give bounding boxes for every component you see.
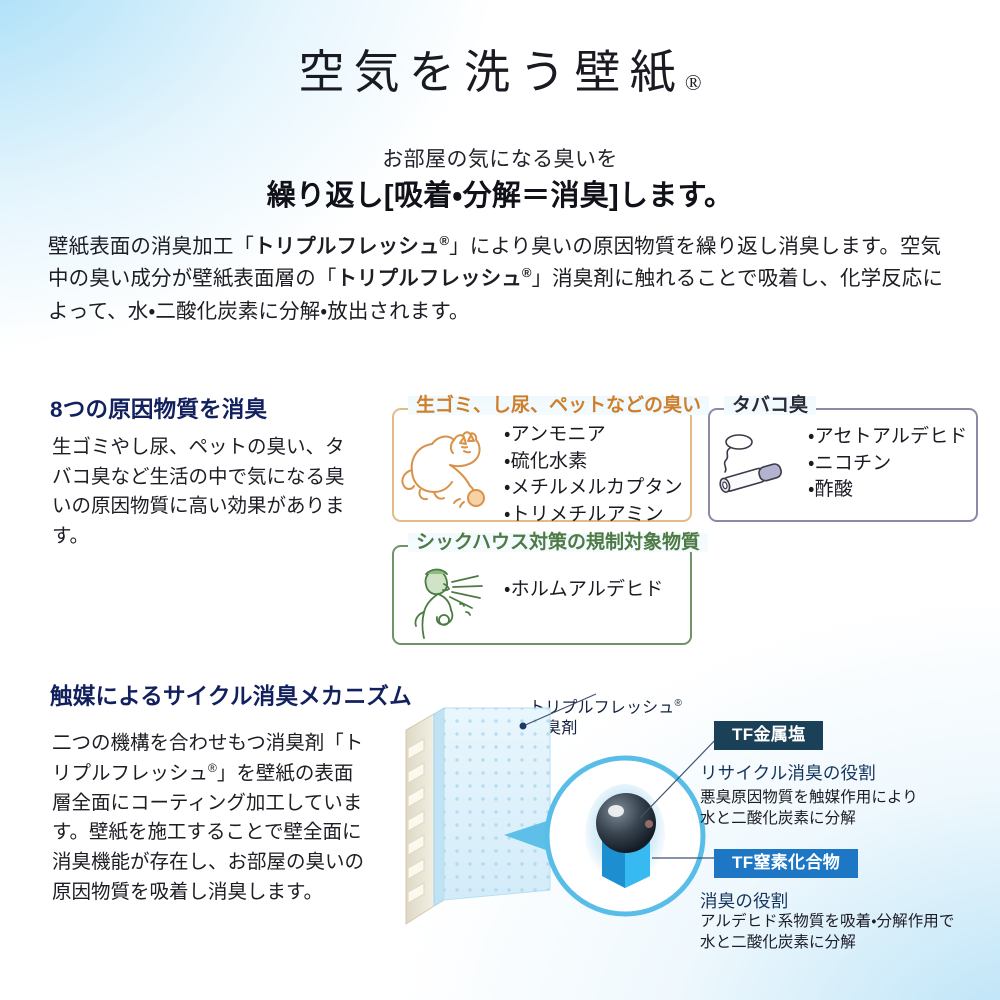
section2-body: 二つの機構を合わせもつ消臭剤「トリプルフレッシュ®」を壁紙の表面層全面にコーティ… <box>52 729 372 907</box>
odor-box-tobacco-legend: タバコ臭 <box>724 396 816 415</box>
list-item: ・メチルメルカプタン <box>504 475 683 502</box>
section1-heading: 8つの原因物質を消臭 <box>50 392 267 424</box>
list-item: ・酢酸 <box>808 477 968 504</box>
brand-name-2: トリプルフレッシュ <box>336 267 521 290</box>
callout-nitro-desc-line2: 水と二酸化炭素に分解 <box>700 934 856 951</box>
brand-1-registered-icon: ® <box>439 233 449 248</box>
magnified-view <box>547 758 703 914</box>
list-item: ・アンモニア <box>504 422 683 449</box>
callout-metal-desc-line2: 水と二酸化炭素に分解 <box>700 810 856 827</box>
list-item: ・トリメチルアミン <box>504 502 683 529</box>
list-item: ・ホルムアルデヒド <box>504 577 664 604</box>
registered-trademark-icon: ® <box>685 70 702 95</box>
cat-icon <box>398 428 494 519</box>
odor-box-sickhouse-list: ・ホルムアルデヒド <box>504 577 664 604</box>
section2-body-part-1: 二つの機構を合わせもつ消臭剤「 <box>52 732 344 754</box>
list-item: ・アセトアルデヒド <box>808 424 968 451</box>
brand-2-registered-icon: ® <box>522 266 532 281</box>
cigarette-icon <box>714 430 796 505</box>
section2-registered-icon: ® <box>208 761 217 775</box>
callout-metal-desc-line1: 悪臭原因物質を触媒作用により <box>700 789 918 806</box>
coughing-person-icon <box>404 560 496 645</box>
section2-heading: 触媒によるサイクル消臭メカニズム <box>50 679 412 711</box>
callout-nitro-desc: アルデヒド系物質を吸着・分解作用で 水と二酸化炭素に分解 <box>700 911 954 954</box>
odor-box-garbage-legend: 生ゴミ、し尿、ペットなどの臭い <box>408 396 709 415</box>
lead-paragraph: 壁紙表面の消臭加工「トリプルフレッシュ®」により臭いの原因物質を繰り返し消臭しま… <box>48 231 954 328</box>
badge-tf-metal-salt: TF金属塩 <box>714 721 823 750</box>
subtitle-strong: 繰り返し[吸着・分解＝消臭]します。 <box>0 172 1000 214</box>
odor-box-sickhouse-legend: シックハウス対策の規制対象物質 <box>408 533 708 552</box>
page-title: 空気を洗う壁紙® <box>0 48 1000 99</box>
odor-box-garbage-list: ・アンモニア ・硫化水素 ・メチルメルカプタン ・トリメチルアミン <box>504 422 683 528</box>
list-item: ・硫化水素 <box>504 449 683 476</box>
wallpaper-cross-section <box>406 708 550 924</box>
badge-tf-nitrogen-compound: TF窒素化合物 <box>714 849 858 878</box>
dark-sphere-icon <box>596 793 656 853</box>
brand-name-1: トリプルフレッシュ <box>254 235 439 258</box>
callout-nitro-desc-line1: アルデヒド系物質を吸着・分解作用で <box>700 913 954 930</box>
lead-part-1: 壁紙表面の消臭加工「 <box>48 235 254 258</box>
callout-metal-desc: 悪臭原因物質を触媒作用により 水と二酸化炭素に分解 <box>700 787 918 830</box>
main-title-text: 空気を洗う壁紙 <box>298 47 684 98</box>
section1-body: 生ゴミやし尿、ペットの臭い、タバコ臭など生活の中で気になる臭いの原因物質に高い効… <box>52 433 352 552</box>
list-item: ・ニコチン <box>808 451 968 478</box>
infographic-page: 空気を洗う壁紙® お部屋の気になる臭いを 繰り返し[吸着・分解＝消臭]します。 … <box>0 0 1000 1000</box>
subtitle-lead: お部屋の気になる臭いを <box>0 143 1000 173</box>
callout-nitro-title: 消臭の役割 <box>700 888 788 913</box>
odor-box-tobacco-list: ・アセトアルデヒド ・ニコチン ・酢酸 <box>808 424 968 504</box>
callout-metal-title: リサイクル消臭の役割 <box>700 760 876 785</box>
